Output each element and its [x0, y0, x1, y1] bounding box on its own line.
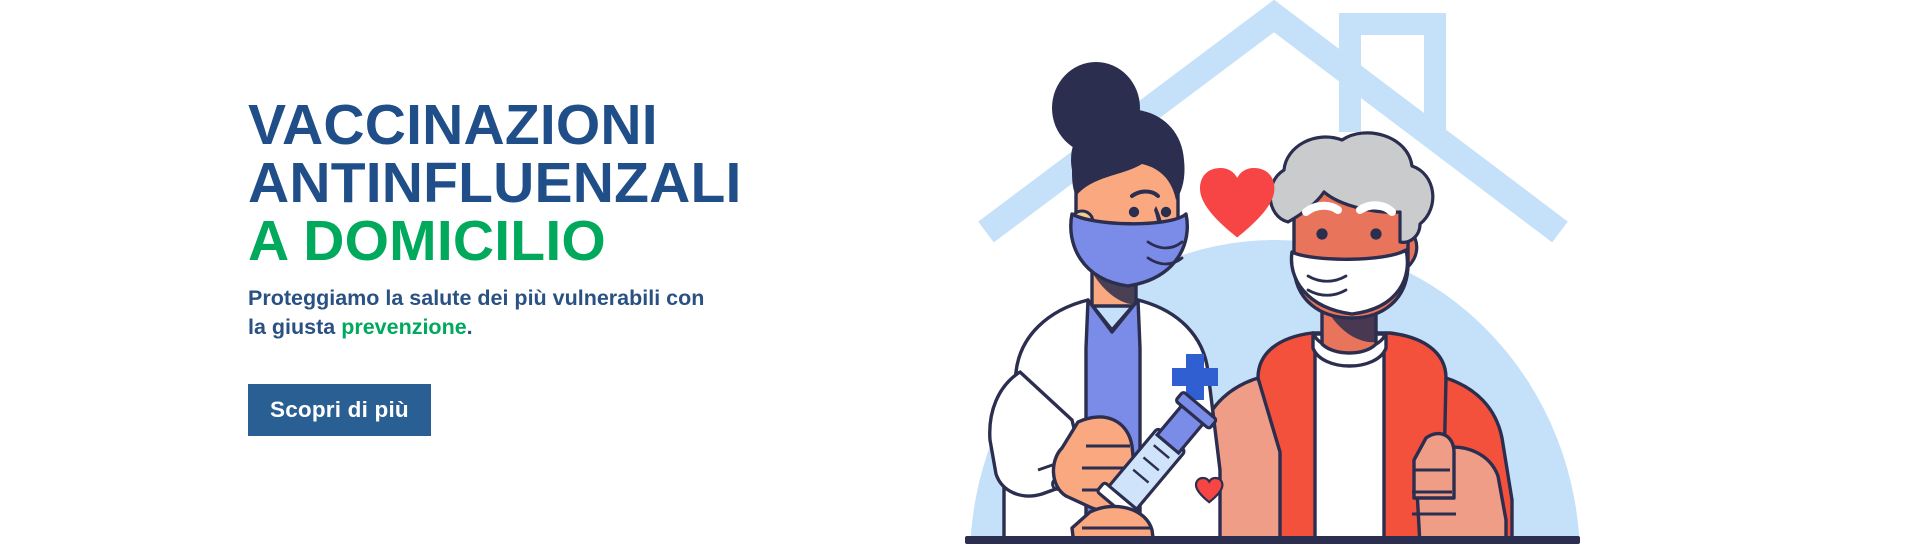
subtitle-period: . — [467, 315, 473, 339]
scopri-di-piu-button[interactable]: Scopri di più — [248, 384, 431, 436]
subtitle-accent-word: prevenzione — [341, 315, 466, 339]
hero-subtitle: Proteggiamo la salute dei più vulnerabil… — [248, 284, 708, 341]
headline-line-3: A DOMICILIO — [248, 212, 868, 270]
headline-line-1: VACCINAZIONI — [248, 93, 658, 157]
ground-line — [965, 536, 1580, 544]
subtitle-text: Proteggiamo la salute dei più vulnerabil… — [248, 286, 704, 339]
headline-line-2: ANTINFLUENZALI — [248, 154, 868, 212]
vaccination-hero-banner: VACCINAZIONI ANTINFLUENZALI A DOMICILIO … — [0, 0, 1920, 550]
page-title: VACCINAZIONI ANTINFLUENZALI A DOMICILIO — [248, 96, 868, 270]
vaccination-scene-svg — [860, 0, 1640, 550]
hero-text-block: VACCINAZIONI ANTINFLUENZALI A DOMICILIO … — [248, 96, 868, 342]
heart-icon — [1200, 168, 1274, 237]
hero-illustration — [860, 0, 1640, 550]
